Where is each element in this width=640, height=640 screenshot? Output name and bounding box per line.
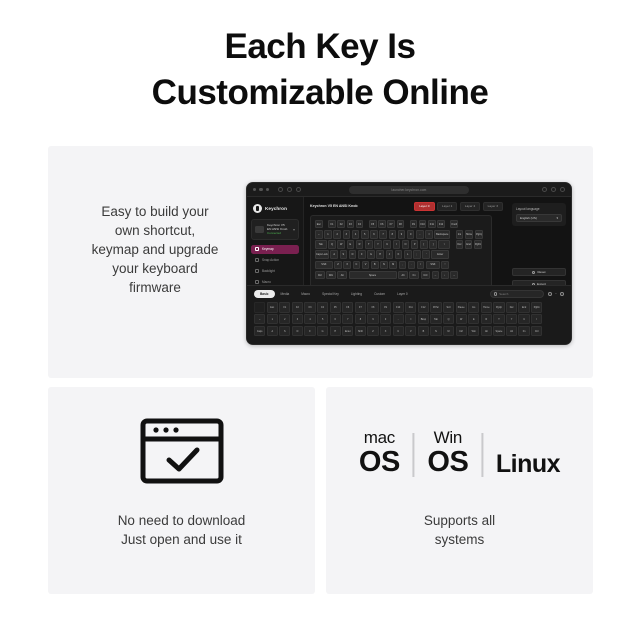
key-knob[interactable]: Knob bbox=[450, 220, 458, 229]
picker-key[interactable]: Scrl bbox=[443, 302, 454, 313]
key[interactable]: 6 bbox=[370, 230, 378, 239]
picker-key[interactable]: Ctrl bbox=[456, 326, 467, 337]
key-ctrl-left[interactable]: Ctrl bbox=[315, 271, 325, 280]
picker-key[interactable]: PrtSc bbox=[430, 302, 441, 313]
device-selector[interactable]: Keychron V5 EN ANSI Knob Connected ▾ bbox=[251, 219, 299, 240]
key-arrow-down[interactable]: ↓ bbox=[441, 271, 449, 280]
key-enter[interactable]: Enter bbox=[431, 250, 449, 259]
key[interactable]: 8 bbox=[389, 230, 397, 239]
key[interactable]: L bbox=[404, 250, 412, 259]
key[interactable]: W bbox=[337, 240, 345, 249]
caption-line-2: Just open and use it bbox=[48, 530, 315, 549]
key[interactable]: S bbox=[340, 250, 348, 259]
key[interactable]: 7 bbox=[379, 230, 387, 239]
key-arrow-up[interactable]: ↑ bbox=[441, 261, 449, 270]
picker-key[interactable]: 8 bbox=[355, 314, 366, 325]
key[interactable]: T bbox=[365, 240, 373, 249]
tabs-icon[interactable] bbox=[551, 187, 556, 192]
picker-key[interactable]: N bbox=[430, 326, 441, 337]
key-shift-left[interactable]: Shift bbox=[315, 261, 333, 270]
key-alt-left[interactable]: Alt bbox=[337, 271, 347, 280]
picker-key[interactable]: Ctrl bbox=[531, 326, 542, 337]
key[interactable]: , bbox=[399, 261, 407, 270]
caption-line-1: No need to download bbox=[118, 513, 246, 528]
tab-macro[interactable]: Macro bbox=[295, 290, 316, 298]
profile-icon[interactable] bbox=[560, 187, 565, 192]
key-alt-right[interactable]: Alt bbox=[398, 271, 408, 280]
key[interactable]: End bbox=[465, 240, 473, 249]
keyboard-row: Esc F1 F2 F3 F4 F5 F6 F7 F8 F9 F10 F11 bbox=[315, 220, 487, 229]
key[interactable]: F8 bbox=[397, 220, 405, 229]
key[interactable]: P bbox=[411, 240, 419, 249]
picker-key[interactable]: Alt bbox=[506, 326, 517, 337]
key-shift-right[interactable]: Shift bbox=[426, 261, 440, 270]
key[interactable]: / bbox=[417, 261, 425, 270]
keyboard-layout-panel[interactable]: Esc F1 F2 F3 F4 F5 F6 F7 F8 F9 F10 F11 bbox=[310, 215, 492, 293]
key[interactable]: . bbox=[408, 261, 416, 270]
picker-key[interactable]: F5 bbox=[330, 302, 341, 313]
reset-button[interactable]: Reset bbox=[512, 268, 566, 276]
layout-language-label: Layout language bbox=[516, 207, 562, 211]
key[interactable]: F9 bbox=[410, 220, 418, 229]
keyboard-row: Shift Z X C V B N M , . / Shift bbox=[315, 261, 487, 270]
picker-key[interactable]: R bbox=[481, 314, 492, 325]
picker-row: Caps A S D F G H Enter Shift Z X C bbox=[254, 326, 564, 337]
os-support-caption: Supports all systems bbox=[326, 511, 593, 549]
browser-window-check-icon-wrap bbox=[140, 418, 224, 489]
key-arrow-left[interactable]: ← bbox=[432, 271, 440, 280]
picker-key[interactable]: = bbox=[405, 314, 416, 325]
back-icon[interactable] bbox=[278, 187, 283, 192]
picker-key[interactable]: Alt bbox=[481, 326, 492, 337]
key[interactable]: F7 bbox=[387, 220, 395, 229]
zoom-out-icon[interactable] bbox=[548, 292, 552, 296]
picker-key[interactable]: Bksp bbox=[418, 314, 429, 325]
linux-text: Linux bbox=[496, 452, 560, 477]
picker-key[interactable]: F10 bbox=[393, 302, 404, 313]
key[interactable]: F12 bbox=[437, 220, 445, 229]
picker-key[interactable]: 0 bbox=[380, 314, 391, 325]
os-divider bbox=[481, 433, 483, 477]
key-backspace[interactable]: Backspace bbox=[434, 230, 450, 239]
tab-special-key[interactable]: Special Key bbox=[316, 290, 345, 298]
key[interactable]: Del bbox=[456, 240, 464, 249]
key[interactable]: - bbox=[416, 230, 424, 239]
top-text-line-2: own shortcut, bbox=[115, 223, 195, 238]
tab-layer-0-picker[interactable]: Layer 0 bbox=[391, 290, 414, 298]
key[interactable]: F4 bbox=[356, 220, 364, 229]
picker-key[interactable]: 1 bbox=[267, 314, 278, 325]
caption-line-1: Supports all bbox=[424, 513, 495, 528]
picker-key[interactable]: Pause bbox=[456, 302, 467, 313]
picker-key[interactable]: Q bbox=[443, 314, 454, 325]
key[interactable]: Y bbox=[374, 240, 382, 249]
keyboard-row: Tab Q W E R T Y U I O P [ ] bbox=[315, 240, 487, 249]
search-placeholder: Search bbox=[499, 292, 508, 296]
picker-key[interactable]: A bbox=[267, 326, 278, 337]
key[interactable]: O bbox=[402, 240, 410, 249]
picker-key[interactable]: F8 bbox=[367, 302, 378, 313]
picker-key[interactable]: Del bbox=[506, 302, 517, 313]
picker-key[interactable]: B bbox=[418, 326, 429, 337]
keyboard-row: Ctrl Win Alt Space Alt Fn Ctrl ← ↓ → bbox=[315, 271, 487, 280]
key[interactable]: N bbox=[380, 261, 388, 270]
picker-key[interactable]: Win bbox=[468, 326, 479, 337]
key-category-tabs[interactable]: Basic Media Macro Special Key Lighting C… bbox=[254, 290, 564, 298]
tab-layer-2[interactable]: Layer 2 bbox=[460, 202, 480, 211]
key[interactable]: M bbox=[389, 261, 397, 270]
zoom-minus[interactable]: − bbox=[555, 292, 557, 296]
key[interactable]: PgUp bbox=[475, 230, 483, 239]
picker-key[interactable]: Ins bbox=[468, 302, 479, 313]
layer-tabs[interactable]: Layer 0 Layer 1 Layer 2 Layer 3 bbox=[414, 202, 503, 211]
layout-language-select[interactable]: English (US) ▾ bbox=[516, 214, 562, 222]
picker-key[interactable]: - bbox=[393, 314, 404, 325]
picker-key[interactable]: 5 bbox=[317, 314, 328, 325]
picker-key[interactable]: F7 bbox=[355, 302, 366, 313]
key[interactable]: ~ bbox=[315, 230, 323, 239]
brand-logo: Keychron bbox=[253, 204, 299, 213]
picker-key[interactable]: Home bbox=[481, 302, 492, 313]
picker-key[interactable]: End bbox=[518, 302, 529, 313]
winos-small-text: Win bbox=[434, 429, 462, 446]
top-text-line-4: your keyboard bbox=[112, 261, 198, 276]
picker-key[interactable]: D bbox=[292, 326, 303, 337]
picker-key[interactable]: Z bbox=[367, 326, 378, 337]
picker-key[interactable]: PgDn bbox=[531, 302, 542, 313]
macos-large-text: OS bbox=[359, 448, 400, 477]
sidebar-item-label: Backlight bbox=[262, 269, 275, 273]
key[interactable]: C bbox=[353, 261, 361, 270]
key[interactable]: 4 bbox=[352, 230, 360, 239]
sidebar-item-label: Macro bbox=[262, 280, 271, 284]
os-logo-row: mac OS Win OS Linux bbox=[359, 429, 560, 477]
picker-key[interactable]: 2 bbox=[279, 314, 290, 325]
picker-key[interactable]: E bbox=[468, 314, 479, 325]
main-header: Keychron V5 EN ANSI Knob Layer 0 Layer 1… bbox=[310, 202, 503, 211]
tab-layer-0[interactable]: Layer 0 bbox=[414, 202, 434, 211]
backlight-icon bbox=[255, 269, 259, 273]
key[interactable]: V bbox=[362, 261, 370, 270]
key[interactable]: F10 bbox=[419, 220, 427, 229]
key[interactable]: 0 bbox=[407, 230, 415, 239]
browser-window-check-icon bbox=[140, 418, 224, 484]
device-meta: Keychron V5 EN ANSI Knob Connected bbox=[267, 223, 290, 236]
sidebar-item-label: Keymap bbox=[262, 247, 274, 251]
key[interactable]: F bbox=[358, 250, 366, 259]
chevron-down-icon: ▾ bbox=[556, 216, 558, 220]
key-arrow-right[interactable]: → bbox=[450, 271, 458, 280]
key-win[interactable]: Win bbox=[326, 271, 336, 280]
picker-key[interactable]: H bbox=[330, 326, 341, 337]
tab-layer-3[interactable]: Layer 3 bbox=[483, 202, 503, 211]
key[interactable]: K bbox=[395, 250, 403, 259]
key[interactable]: Esc bbox=[315, 220, 323, 229]
maximize-icon[interactable] bbox=[266, 188, 269, 191]
zoom-in-icon[interactable] bbox=[560, 292, 564, 296]
launcher-body: Keychron Keychron V5 EN ANSI Knob Connec… bbox=[247, 197, 571, 345]
key[interactable]: Ins bbox=[456, 230, 464, 239]
picker-key[interactable]: Tab bbox=[430, 314, 441, 325]
keyboard-icon bbox=[255, 226, 264, 233]
key[interactable]: F6 bbox=[378, 220, 386, 229]
key-picker-bar: Basic Media Macro Special Key Lighting C… bbox=[247, 285, 571, 345]
sidebar-item-keymap[interactable]: Keymap bbox=[251, 245, 299, 255]
picker-key[interactable]: F11 bbox=[405, 302, 416, 313]
picker-key[interactable]: Caps bbox=[254, 326, 265, 337]
picker-key[interactable]: F6 bbox=[342, 302, 353, 313]
sidebar-item-snap-action[interactable]: Snap Action bbox=[251, 256, 299, 266]
key[interactable]: D bbox=[349, 250, 357, 259]
feature-card-os-support: mac OS Win OS Linux Supports all systems bbox=[326, 387, 593, 594]
key[interactable]: Home bbox=[465, 230, 474, 239]
key[interactable]: ' bbox=[422, 250, 430, 259]
top-text-line-5: firmware bbox=[129, 280, 181, 295]
picker-key[interactable]: 7 bbox=[342, 314, 353, 325]
keymap-icon bbox=[255, 247, 259, 251]
key[interactable]: ] bbox=[429, 240, 437, 249]
picker-key[interactable] bbox=[254, 302, 265, 313]
browser-actions[interactable] bbox=[542, 187, 565, 192]
picker-key[interactable]: Y bbox=[506, 314, 517, 325]
url-text: launcher.keychron.com bbox=[392, 188, 427, 192]
picker-key[interactable]: F12 bbox=[418, 302, 429, 313]
picker-key[interactable]: Esc bbox=[267, 302, 278, 313]
keyboard-name: Keychron V5 EN ANSI Knob bbox=[310, 204, 358, 208]
picker-key[interactable]: Fn bbox=[518, 326, 529, 337]
key[interactable]: U bbox=[383, 240, 391, 249]
key[interactable]: = bbox=[425, 230, 433, 239]
key[interactable]: 5 bbox=[361, 230, 369, 239]
search-input[interactable]: Search bbox=[490, 290, 544, 298]
picker-key[interactable]: W bbox=[456, 314, 467, 325]
reload-icon[interactable] bbox=[296, 187, 301, 192]
sidebar-item-backlight[interactable]: Backlight bbox=[251, 267, 299, 277]
chevron-down-icon[interactable]: ▾ bbox=[293, 227, 295, 232]
key[interactable]: F3 bbox=[347, 220, 355, 229]
picker-key[interactable]: M bbox=[443, 326, 454, 337]
key[interactable]: Q bbox=[328, 240, 336, 249]
os-macos: mac OS bbox=[359, 429, 400, 477]
keychron-logo-icon bbox=[253, 204, 262, 213]
picker-row: Esc F1 F2 F3 F4 F5 F6 F7 F8 F9 F10 F11 bbox=[254, 302, 564, 313]
no-download-caption: No need to download Just open and use it bbox=[48, 511, 315, 549]
key-space[interactable]: Space bbox=[349, 271, 397, 280]
picker-key[interactable]: 6 bbox=[330, 314, 341, 325]
tab-custom[interactable]: Custom bbox=[368, 290, 391, 298]
top-text-line-1: Easy to build your bbox=[101, 204, 208, 219]
sidebar-item-label: Snap Action bbox=[262, 258, 279, 262]
browser-nav-controls[interactable] bbox=[278, 187, 301, 192]
key[interactable]: X bbox=[343, 261, 351, 270]
top-text-line-3: keymap and upgrade bbox=[92, 242, 219, 257]
picker-key[interactable]: 4 bbox=[304, 314, 315, 325]
page-title: Each Key Is Customizable Online bbox=[0, 24, 640, 116]
picker-key[interactable]: F1 bbox=[279, 302, 290, 313]
key-ctrl-right[interactable]: Ctrl bbox=[421, 271, 431, 280]
picker-key[interactable]: PgUp bbox=[493, 302, 504, 313]
picker-key[interactable]: F3 bbox=[304, 302, 315, 313]
window-controls[interactable] bbox=[253, 188, 269, 191]
key-fn[interactable]: Fn bbox=[409, 271, 419, 280]
right-panel-spacer bbox=[512, 232, 566, 268]
picker-key[interactable]: V bbox=[405, 326, 416, 337]
key-backslash[interactable]: \ bbox=[438, 240, 450, 249]
os-divider bbox=[413, 433, 415, 477]
picker-key[interactable]: T bbox=[493, 314, 504, 325]
picker-key[interactable]: ~ bbox=[254, 314, 265, 325]
key[interactable]: 3 bbox=[343, 230, 351, 239]
key[interactable]: R bbox=[356, 240, 364, 249]
device-status: Connected bbox=[267, 231, 290, 235]
macro-icon bbox=[255, 280, 259, 284]
share-icon[interactable] bbox=[542, 187, 547, 192]
key[interactable]: H bbox=[376, 250, 384, 259]
key[interactable]: F5 bbox=[369, 220, 377, 229]
picker-key[interactable]: G bbox=[317, 326, 328, 337]
key[interactable]: G bbox=[367, 250, 375, 259]
keyboard-row: Caps Lock A S D F G H J K L ; ' bbox=[315, 250, 487, 259]
page-title-line-1: Each Key Is bbox=[225, 27, 416, 66]
picker-key[interactable]: X bbox=[380, 326, 391, 337]
key[interactable]: F1 bbox=[328, 220, 336, 229]
page-title-line-2: Customizable Online bbox=[0, 70, 640, 116]
picker-key[interactable]: Space bbox=[493, 326, 504, 337]
key[interactable]: F2 bbox=[337, 220, 345, 229]
close-icon[interactable] bbox=[253, 188, 256, 191]
minimize-icon[interactable] bbox=[259, 188, 262, 191]
promo-page: Each Key Is Customizable Online Easy to … bbox=[0, 0, 640, 640]
layout-language-card: Layout language English (US) ▾ bbox=[512, 203, 566, 226]
key[interactable]: E bbox=[347, 240, 355, 249]
key[interactable]: ; bbox=[413, 250, 421, 259]
key[interactable]: F11 bbox=[428, 220, 436, 229]
forward-icon[interactable] bbox=[287, 187, 292, 192]
picker-key[interactable]: I bbox=[531, 314, 542, 325]
picker-key[interactable]: 3 bbox=[292, 314, 303, 325]
picker-key[interactable]: S bbox=[279, 326, 290, 337]
key[interactable]: J bbox=[386, 250, 394, 259]
brand-name: Keychron bbox=[265, 206, 287, 211]
key[interactable]: 9 bbox=[398, 230, 406, 239]
layout-language-value: English (US) bbox=[520, 216, 537, 220]
key-caps-lock[interactable]: Caps Lock bbox=[315, 250, 329, 259]
feature-card-customization: Easy to build your own shortcut, keymap … bbox=[48, 146, 593, 378]
url-bar[interactable]: launcher.keychron.com bbox=[349, 186, 469, 194]
zoom-controls[interactable]: − bbox=[548, 292, 564, 296]
macos-small-text: mac bbox=[364, 429, 395, 446]
tab-basic[interactable]: Basic bbox=[254, 290, 275, 298]
picker-key[interactable]: F bbox=[304, 326, 315, 337]
picker-right-controls: Search − bbox=[490, 290, 564, 298]
key[interactable]: [ bbox=[420, 240, 428, 249]
key[interactable]: B bbox=[371, 261, 379, 270]
caption-line-2: systems bbox=[326, 530, 593, 549]
picker-key[interactable]: Enter bbox=[342, 326, 353, 337]
picker-key[interactable]: Shift bbox=[355, 326, 366, 337]
browser-titlebar: launcher.keychron.com bbox=[247, 183, 571, 197]
feature-card-top-text: Easy to build your own shortcut, keymap … bbox=[62, 202, 248, 297]
picker-key[interactable]: F4 bbox=[317, 302, 328, 313]
tab-media[interactable]: Media bbox=[275, 290, 296, 298]
tab-lighting[interactable]: Lighting bbox=[345, 290, 368, 298]
picker-key[interactable]: C bbox=[393, 326, 404, 337]
reset-label: Reset bbox=[537, 270, 545, 274]
reset-icon bbox=[532, 271, 535, 274]
key[interactable]: PgDn bbox=[474, 240, 482, 249]
feature-card-no-download: No need to download Just open and use it bbox=[48, 387, 315, 594]
winos-large-text: OS bbox=[427, 448, 468, 477]
key[interactable]: 2 bbox=[333, 230, 341, 239]
key[interactable]: I bbox=[393, 240, 401, 249]
os-linux: Linux bbox=[496, 452, 560, 477]
key[interactable]: 1 bbox=[324, 230, 332, 239]
launcher-app-screenshot: launcher.keychron.com Keychron bbox=[246, 182, 572, 345]
key-tab[interactable]: Tab bbox=[315, 240, 327, 249]
key[interactable]: Z bbox=[334, 261, 342, 270]
picker-key[interactable]: F9 bbox=[380, 302, 391, 313]
snap-action-icon bbox=[255, 258, 259, 262]
picker-key[interactable]: U bbox=[518, 314, 529, 325]
tab-layer-1[interactable]: Layer 1 bbox=[437, 202, 457, 211]
keyboard-row: ~ 1 2 3 4 5 6 7 8 9 0 - = bbox=[315, 230, 487, 239]
picker-key[interactable]: 9 bbox=[367, 314, 378, 325]
key[interactable]: A bbox=[330, 250, 338, 259]
picker-key[interactable]: F2 bbox=[292, 302, 303, 313]
picker-row: ~ 1 2 3 4 5 6 7 8 9 0 - = bbox=[254, 314, 564, 325]
search-icon bbox=[494, 292, 497, 295]
os-winos: Win OS bbox=[427, 429, 468, 477]
key-picker-grid[interactable]: Esc F1 F2 F3 F4 F5 F6 F7 F8 F9 F10 F11 bbox=[254, 302, 564, 336]
